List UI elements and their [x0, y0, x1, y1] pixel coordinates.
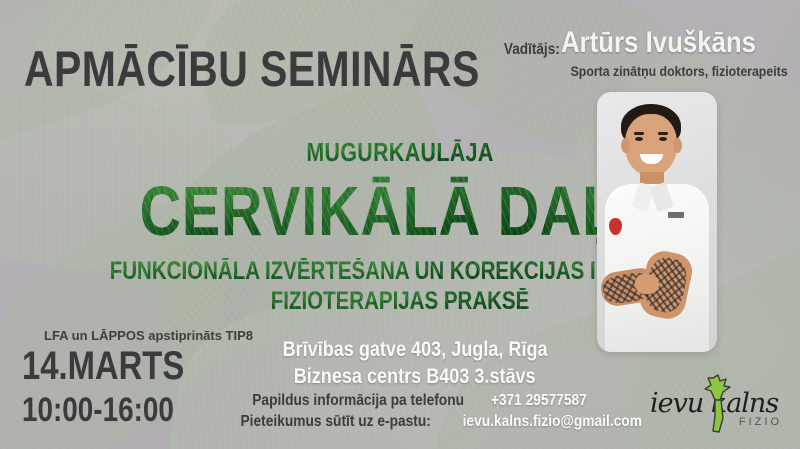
email-value[interactable]: ievu.kalns.fizio@gmail.com: [463, 413, 642, 431]
leader-role: Sporta zinātņu doktors, fizioterapeits: [530, 63, 788, 79]
phone-value[interactable]: +371 29577587: [491, 392, 587, 410]
seminar-poster: APMĀCĪBU SEMINĀRS Vadītājs:Artūrs Ivuškā…: [0, 0, 800, 449]
contact-block: Brīvības gatve 403, Jugla, Rīga Biznesa …: [225, 338, 605, 434]
page-title: APMĀCĪBU SEMINĀRS: [24, 44, 480, 94]
photo-brow-right: [658, 132, 668, 135]
address-line-1-text: Brīvības gatve 403, Jugla, Rīga: [282, 338, 547, 362]
leader-block: Vadītājs:Artūrs Ivuškāns Sporta zinātņu …: [494, 26, 788, 79]
photo-hand: [635, 274, 659, 294]
photo-eye-left: [635, 137, 643, 141]
address-line-2: Biznesa centrs B403 3.stāvs: [225, 365, 605, 389]
photo-brand-logo: [668, 212, 684, 218]
event-date: 14.MARTS: [22, 345, 184, 387]
sprout-figure-icon: [696, 374, 736, 436]
photo-face: [625, 114, 677, 176]
leader-line: Vadītājs:Artūrs Ivuškāns: [494, 26, 788, 60]
phone-label: Papildus informācija pa telefonu: [252, 392, 464, 410]
photo-brow-left: [634, 132, 644, 135]
brand-logo-tagline: FIZIO: [739, 416, 782, 428]
email-row: Pieteikumus sūtīt uz e-pastu:ievu.kalns.…: [225, 413, 605, 431]
leader-label: Vadītājs:: [504, 41, 560, 59]
address-line-2-text: Biznesa centrs B403 3.stāvs: [294, 365, 536, 389]
leader-name: Artūrs Ivuškāns: [561, 26, 756, 60]
brand-logo[interactable]: ievu kalns FIZIO: [650, 378, 790, 440]
presenter-photo: [597, 92, 717, 352]
photo-eye-right: [659, 137, 667, 141]
phone-row: Papildus informācija pa telefonu+371 295…: [225, 392, 605, 410]
address-line-1: Brīvības gatve 403, Jugla, Rīga: [225, 338, 605, 362]
event-time: 10:00-16:00: [22, 392, 174, 428]
photo-ear-right: [673, 138, 682, 153]
email-label: Pieteikumus sūtīt uz e-pastu:: [240, 413, 430, 431]
accreditation-text: LFA un LĀPPOS apstiprināts TIP8: [44, 328, 253, 343]
photo-ear-left: [621, 138, 630, 153]
